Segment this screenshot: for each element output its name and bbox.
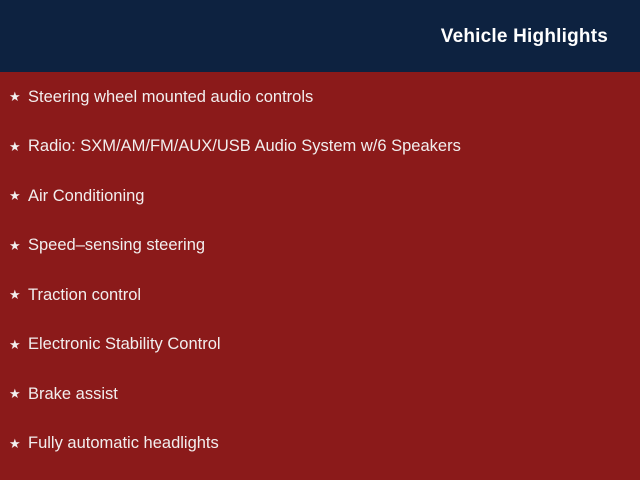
star-bullet-icon: ★ xyxy=(9,140,28,153)
list-item-label: Electronic Stability Control xyxy=(28,335,221,353)
list-item: ★Speed–sensing steering xyxy=(0,221,640,271)
list-item-label: Steering wheel mounted audio controls xyxy=(28,88,313,106)
star-bullet-icon: ★ xyxy=(9,90,28,103)
vehicle-highlights-list: ★Steering wheel mounted audio controls★R… xyxy=(0,72,640,468)
list-item-label: Brake assist xyxy=(28,385,118,403)
list-item: ★Brake assist xyxy=(0,369,640,419)
list-item-label: Traction control xyxy=(28,286,141,304)
list-item: ★Steering wheel mounted audio controls xyxy=(0,72,640,122)
star-bullet-icon: ★ xyxy=(9,239,28,252)
list-item-label: Speed–sensing steering xyxy=(28,236,205,254)
star-bullet-icon: ★ xyxy=(9,338,28,351)
star-bullet-icon: ★ xyxy=(9,437,28,450)
list-item: ★Radio: SXM/AM/FM/AUX/USB Audio System w… xyxy=(0,122,640,172)
page-title: Vehicle Highlights xyxy=(441,27,608,46)
list-item-label: Air Conditioning xyxy=(28,187,144,205)
slide-header: Vehicle Highlights xyxy=(0,0,640,72)
vehicle-highlights-slide: Vehicle Highlights ★Steering wheel mount… xyxy=(0,0,640,480)
list-item: ★Traction control xyxy=(0,270,640,320)
list-item: ★Electronic Stability Control xyxy=(0,320,640,370)
list-item-label: Fully automatic headlights xyxy=(28,434,219,452)
list-item: ★Fully automatic headlights xyxy=(0,419,640,469)
star-bullet-icon: ★ xyxy=(9,189,28,202)
list-item: ★Air Conditioning xyxy=(0,171,640,221)
star-bullet-icon: ★ xyxy=(9,288,28,301)
star-bullet-icon: ★ xyxy=(9,387,28,400)
list-item-label: Radio: SXM/AM/FM/AUX/USB Audio System w/… xyxy=(28,137,461,155)
